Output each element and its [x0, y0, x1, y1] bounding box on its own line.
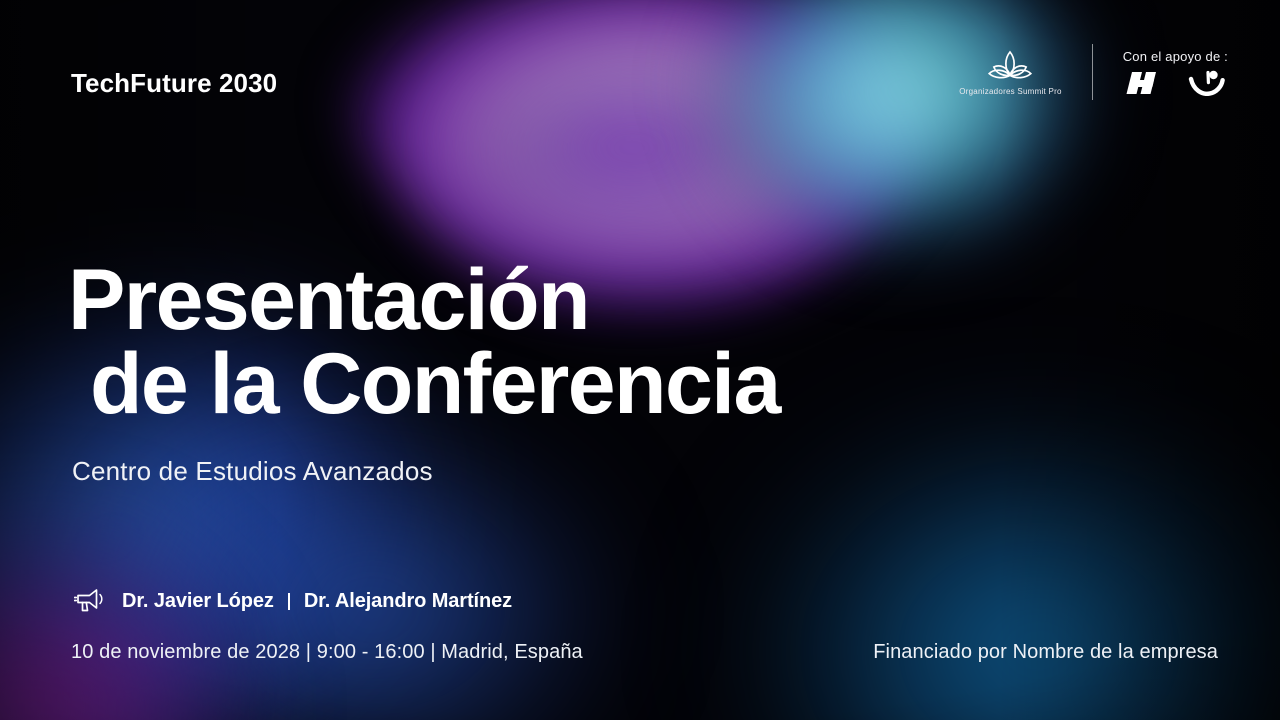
support-label: Con el apoyo de : — [1123, 49, 1228, 64]
logo-cluster: Organizadores Summit Pro Con el apoyo de… — [959, 44, 1228, 100]
speaker-separator — [288, 593, 290, 610]
title-line-2: de la Conferencia — [90, 342, 780, 426]
brand-wordmark: TechFuture 2030 — [71, 68, 277, 99]
funding-credit: Financiado por Nombre de la empresa — [873, 641, 1218, 664]
event-details: 10 de noviembre de 2028 | 9:00 - 16:00 |… — [71, 641, 583, 664]
lotus-flower-icon — [982, 48, 1038, 82]
title-line-1: Presentación — [68, 252, 589, 348]
page-title: Presentación de la Conferencia — [68, 258, 780, 427]
supporters-block: Con el apoyo de : — [1109, 49, 1228, 96]
speaker-name-2: Dr. Alejandro Martínez — [304, 590, 512, 613]
megaphone-icon — [74, 586, 108, 616]
logo-divider — [1092, 44, 1093, 100]
conference-title-slide: TechFuture 2030 Organizadores Summit Pro… — [0, 0, 1280, 720]
subtitle: Centro de Estudios Avanzados — [72, 456, 433, 487]
organizer-name: Organizadores Summit Pro — [959, 87, 1061, 96]
organizer-logo-block: Organizadores Summit Pro — [959, 48, 1075, 96]
support-logo-row — [1124, 70, 1226, 96]
smiling-figure-icon — [1188, 70, 1226, 96]
speaker-name-1: Dr. Javier López — [122, 590, 274, 613]
speaker-names: Dr. Javier López Dr. Alejandro Martínez — [122, 590, 512, 613]
h-monogram-icon — [1124, 70, 1166, 96]
slide-content: TechFuture 2030 Organizadores Summit Pro… — [0, 0, 1280, 720]
speakers-row: Dr. Javier López Dr. Alejandro Martínez — [74, 586, 512, 616]
